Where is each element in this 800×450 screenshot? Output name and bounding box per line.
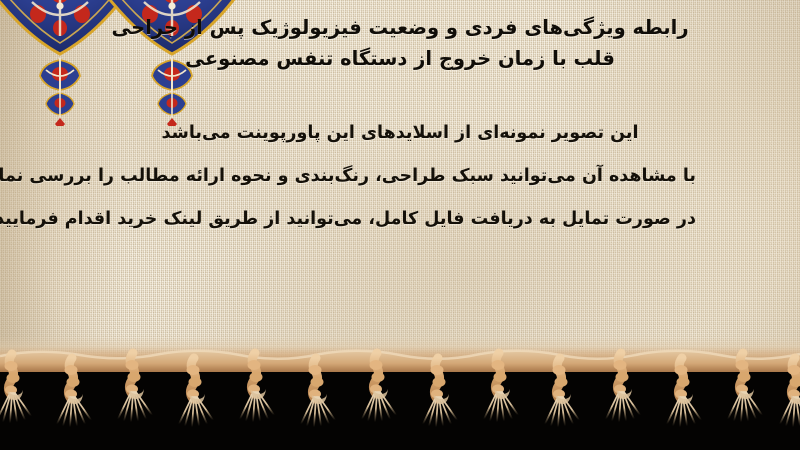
slide-body-line-2: با مشاهده آن می‌توانید سبک طراحی، رنگ‌بن… xyxy=(104,155,696,198)
slide-canvas: رابطه ویژگی‌های فردی و وضعیت فیزیولوژیک … xyxy=(0,0,800,450)
slide-body: این تصویر نمونه‌ای از اسلایدهای این پاور… xyxy=(104,112,696,241)
slide-body-line-1: این تصویر نمونه‌ای از اسلایدهای این پاور… xyxy=(104,112,696,155)
carpet-fringe-icon xyxy=(0,332,800,450)
slide-title: رابطه ویژگی‌های فردی و وضعیت فیزیولوژیک … xyxy=(0,12,800,74)
slide-body-line-3: در صورت تمایل به دریافت فایل کامل، می‌تو… xyxy=(104,198,696,241)
slide-title-line-1: رابطه ویژگی‌های فردی و وضعیت فیزیولوژیک … xyxy=(0,12,800,43)
slide-title-line-2: قلب با زمان خروج از دستگاه تنفس مصنوعی xyxy=(0,43,800,74)
